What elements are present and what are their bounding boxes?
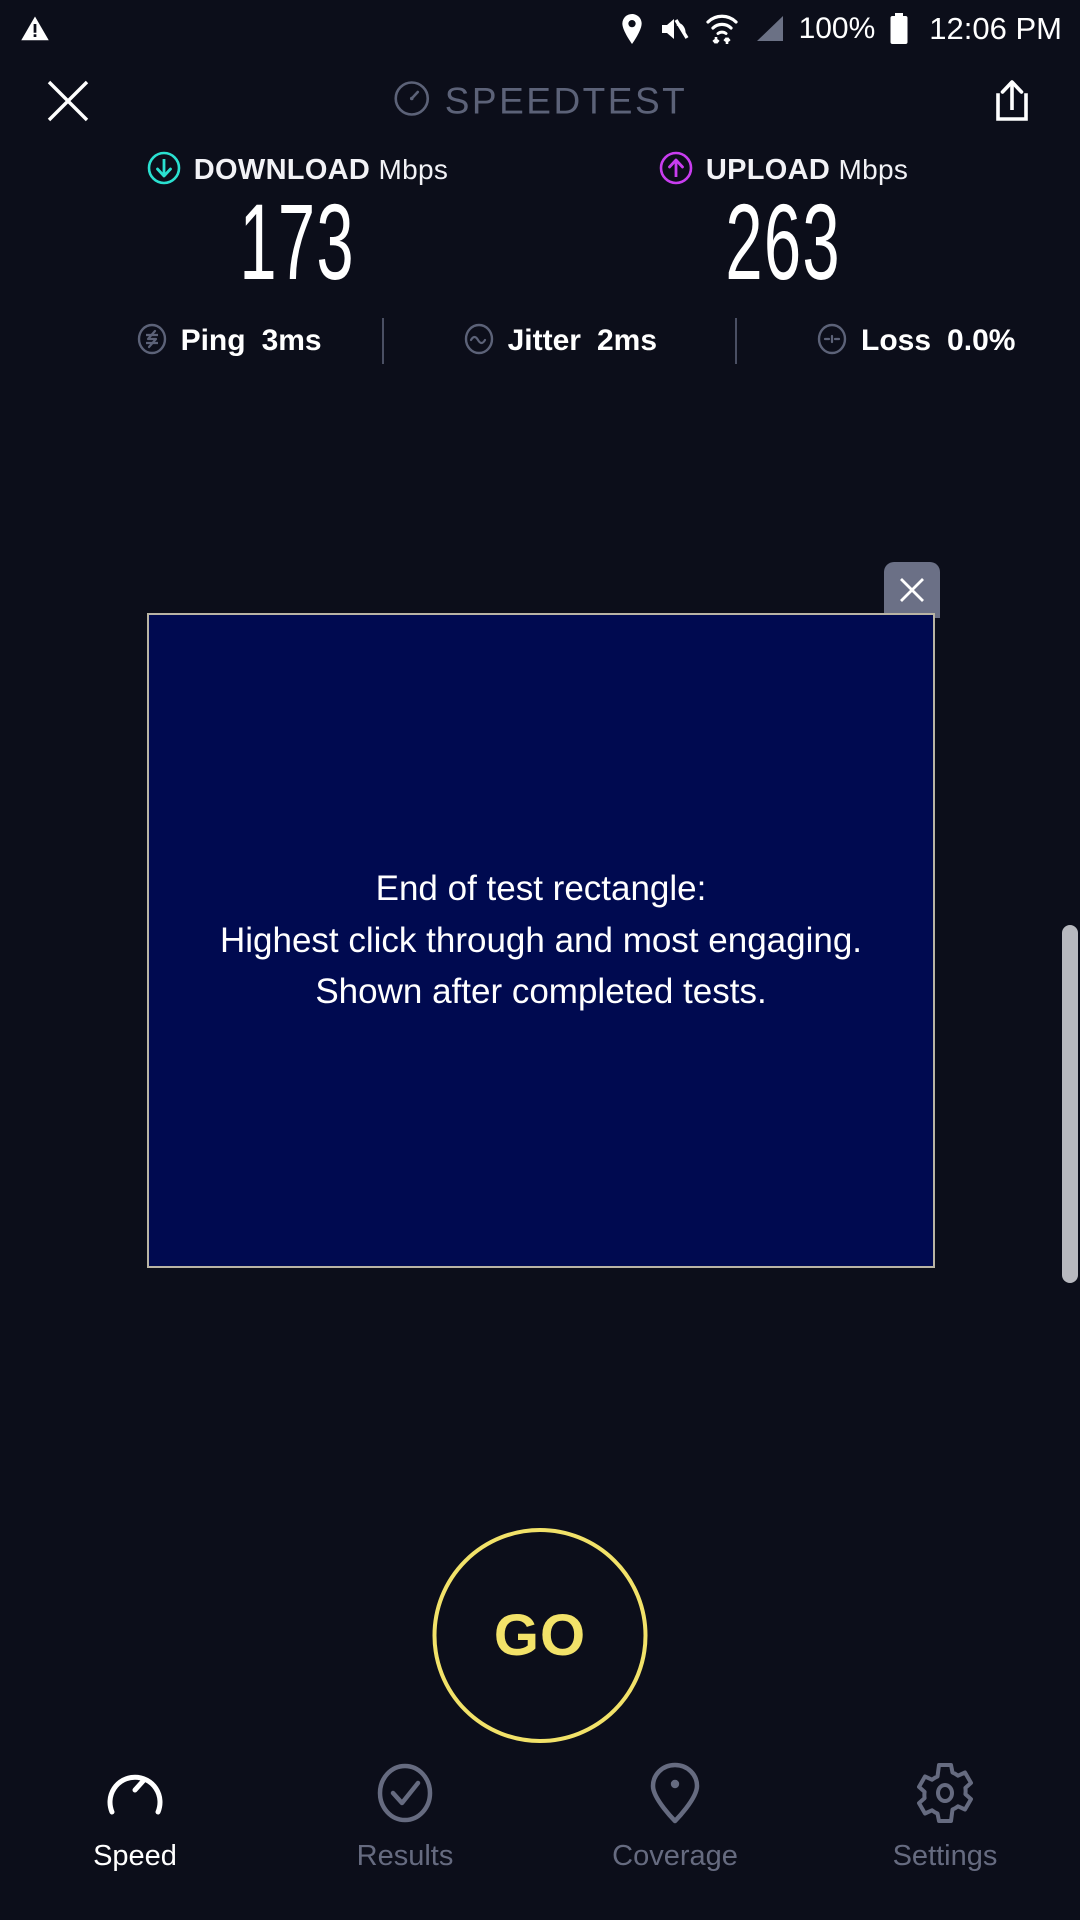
upload-metric: UPLOAD Mbps 263 [588,150,978,297]
status-bar-right: 100% 12:06 PM [619,11,1062,47]
battery-full-icon [889,13,909,45]
ad-line-3: Shown after completed tests. [220,966,862,1018]
ping-metric: Ping 3ms [135,322,322,361]
go-button[interactable]: GO [433,1528,648,1743]
divider [382,318,384,364]
speed-metrics-row: DOWNLOAD Mbps 173 UPLOAD Mbps 263 [0,144,1080,297]
mute-icon [659,14,691,44]
nav-item-speed[interactable]: Speed [0,1762,270,1873]
nav-item-settings[interactable]: Settings [810,1762,1080,1873]
download-unit: Mbps [379,154,449,185]
close-icon [45,78,91,124]
loss-value: 0.0% [947,324,1015,358]
app-brand: SPEEDTEST [393,80,688,123]
app-header: SPEEDTEST [0,58,1080,144]
ad-close-button[interactable] [884,562,940,618]
status-bar-left [20,14,50,44]
upload-unit: Mbps [838,154,908,185]
ad-banner[interactable]: End of test rectangle: Highest click thr… [147,613,935,1268]
ping-value: 3ms [262,324,322,358]
results-summary: DOWNLOAD Mbps 173 UPLOAD Mbps 263 [0,144,1080,371]
location-pin-icon [619,14,645,44]
nav-label-results: Results [357,1840,454,1873]
speedometer-icon [104,1762,166,1824]
gear-icon [913,1762,977,1824]
bottom-navigation: Speed Results Coverage [0,1752,1080,1920]
jitter-label: Jitter [508,324,581,358]
jitter-icon [462,322,496,361]
app-title: SPEEDTEST [445,80,688,122]
cell-signal-icon [753,14,785,44]
divider [735,318,737,364]
jitter-metric: Jitter 2ms [462,322,657,361]
loss-metric: Loss 0.0% [815,322,1015,361]
jitter-value: 2ms [597,324,657,358]
download-value: 173 [239,187,354,297]
nav-label-settings: Settings [893,1840,998,1873]
share-icon [990,77,1034,125]
nav-item-coverage[interactable]: Coverage [540,1762,810,1873]
download-metric: DOWNLOAD Mbps 173 [102,150,492,297]
nav-item-results[interactable]: Results [270,1762,540,1873]
nav-label-coverage: Coverage [612,1840,738,1873]
go-button-label: GO [494,1602,586,1669]
loss-icon [815,322,849,361]
ping-label: Ping [181,324,246,358]
share-button[interactable] [984,73,1040,129]
page-scrollbar[interactable] [1062,925,1078,1283]
upload-value: 263 [725,187,840,297]
ad-line-1: End of test rectangle: [220,863,862,915]
close-icon [897,575,927,605]
download-arrow-icon [146,150,182,191]
upload-arrow-icon [658,150,694,191]
speedtest-app-screen: 100% 12:06 PM SP [0,0,1080,1920]
speedometer-icon [393,80,431,123]
ping-icon [135,322,169,361]
location-pin-icon [648,1762,702,1824]
ad-line-2: Highest click through and most engaging. [220,915,862,967]
battery-percent-label: 100% [799,12,876,46]
nav-label-speed: Speed [93,1840,177,1873]
ping-jitter-loss-row: Ping 3ms Jitter 2ms [0,311,1080,371]
status-bar: 100% 12:06 PM [0,0,1080,58]
close-button[interactable] [38,71,98,131]
check-circle-icon [374,1762,436,1824]
warning-triangle-icon [20,14,50,44]
ad-text: End of test rectangle: Highest click thr… [208,863,874,1018]
wifi-icon [705,13,739,45]
status-bar-clock: 12:06 PM [929,11,1062,47]
loss-label: Loss [861,324,931,358]
